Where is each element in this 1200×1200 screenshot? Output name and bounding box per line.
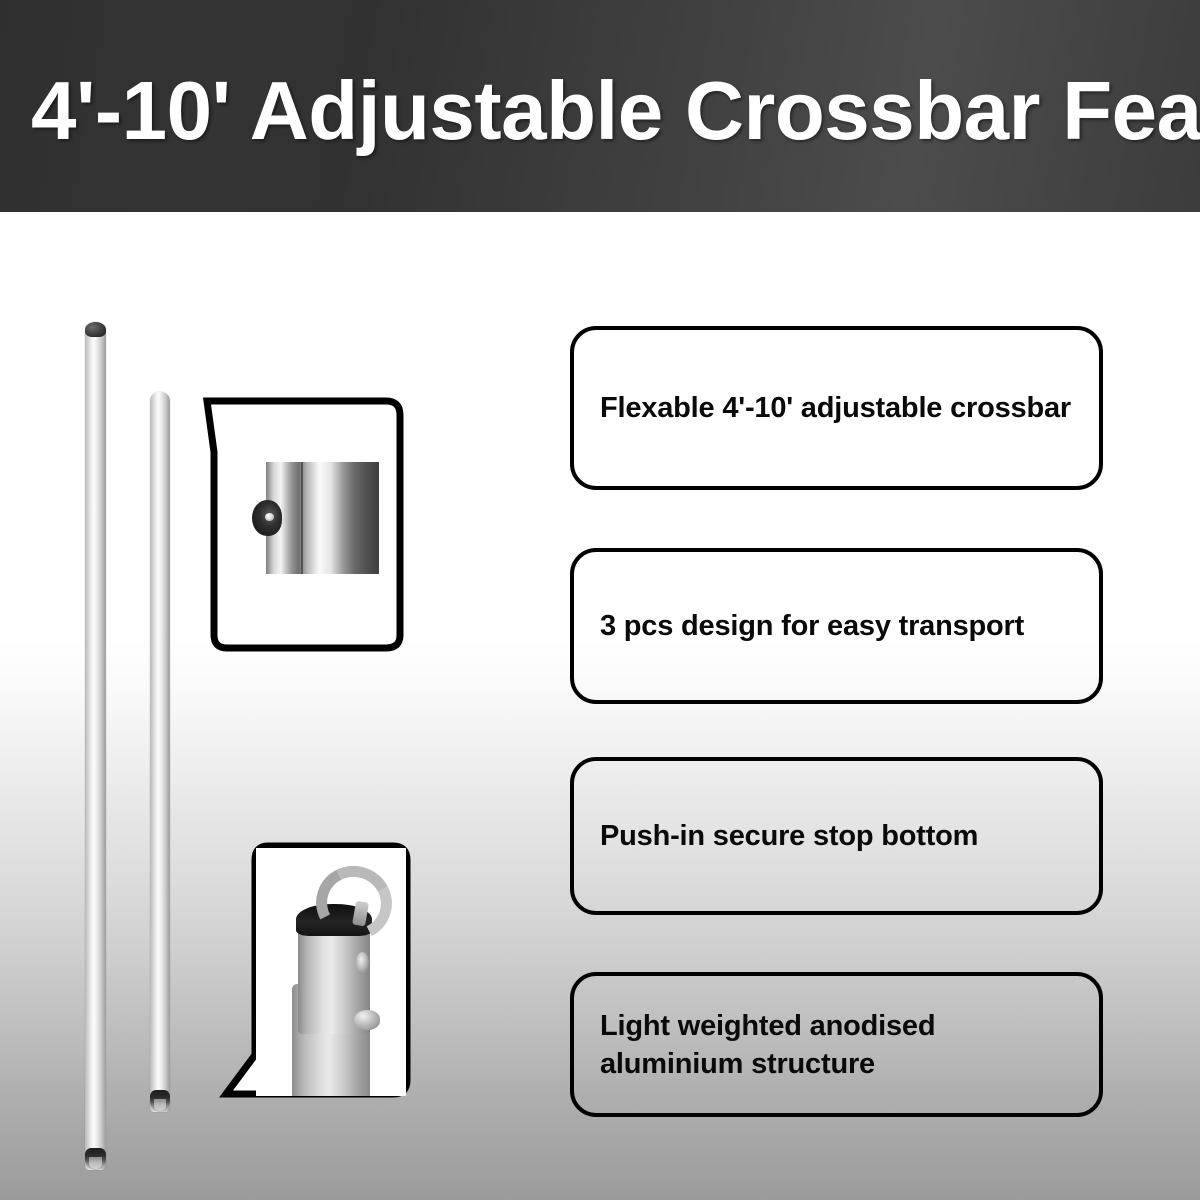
feature-box-crossbar: Flexable 4'-10' adjustable crossbar — [570, 326, 1103, 490]
page-title: 4'-10' Adjustable Crossbar Feature — [31, 64, 1164, 158]
feature-label-line-2: aluminium structure — [600, 1048, 875, 1080]
feature-box-aluminium: Light weighted anodised aluminium struct… — [570, 972, 1103, 1117]
feature-label: Light weighted anodised aluminium struct… — [600, 1007, 935, 1083]
rivet-icon — [356, 952, 369, 974]
header-banner: 4'-10' Adjustable Crossbar Feature — [0, 0, 1200, 212]
feature-box-stop-bottom: Push-in secure stop bottom — [570, 757, 1103, 915]
pole-bottom-cap-icon — [150, 1090, 170, 1112]
product-illustration — [0, 212, 545, 1200]
feature-label: Push-in secure stop bottom — [600, 817, 978, 855]
push-in-stop-photo — [256, 848, 406, 1096]
long-pole — [85, 322, 106, 1170]
thumb-screw-photo — [266, 462, 379, 574]
feature-box-transport: 3 pcs design for easy transport — [570, 548, 1103, 704]
infographic-page: 4'-10' Adjustable Crossbar Feature — [0, 0, 1200, 1200]
feature-label: 3 pcs design for easy transport — [600, 607, 1024, 645]
callout-thumb-screw-detail — [200, 390, 407, 653]
feature-label-line-1: Light weighted anodised — [600, 1010, 935, 1042]
thumb-screw-icon — [252, 500, 282, 536]
callout-push-in-stop-detail — [218, 840, 414, 1106]
push-in-button-icon — [354, 1010, 380, 1030]
short-pole — [150, 392, 170, 1112]
tube-seam-line — [301, 462, 303, 574]
feature-label: Flexable 4'-10' adjustable crossbar — [600, 389, 1071, 427]
pole-top-cap-icon — [85, 322, 106, 337]
pole-bottom-cap-icon — [85, 1148, 106, 1170]
